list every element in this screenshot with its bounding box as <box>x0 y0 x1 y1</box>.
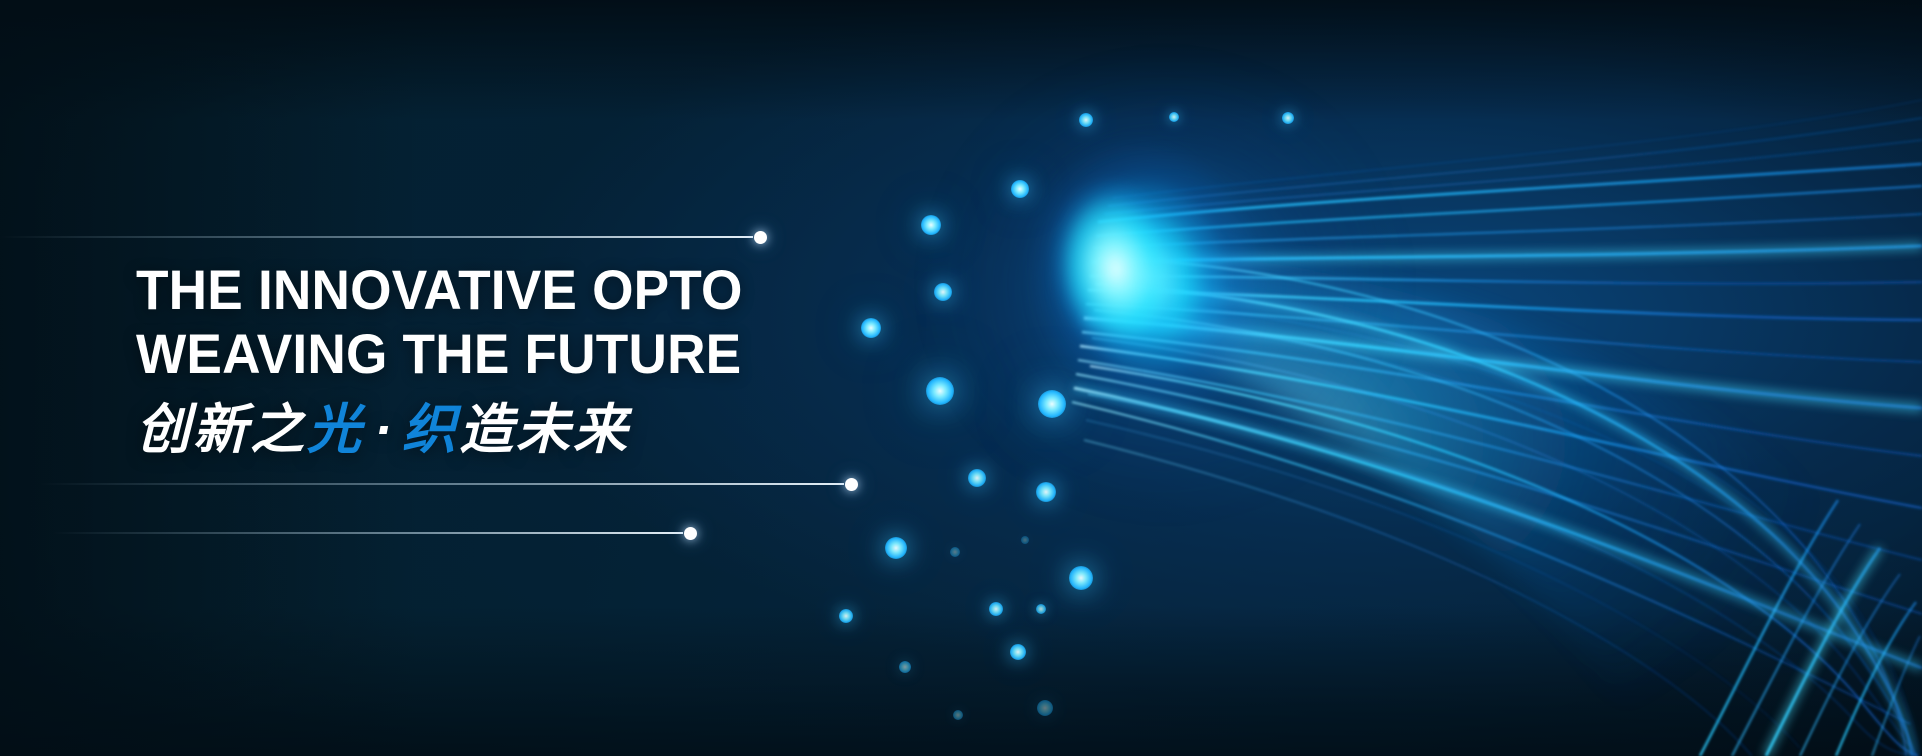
cn-highlight-2: 织 <box>402 400 459 460</box>
hero-banner: THE INNOVATIVE OPTO WEAVING THE FUTURE 创… <box>0 0 1922 756</box>
headline-line-1: THE INNOVATIVE OPTO <box>136 258 820 322</box>
headline-line-2: WEAVING THE FUTURE <box>136 322 820 386</box>
headline-chinese: 创新之光·织造未来 <box>136 403 856 457</box>
cn-highlight-1: 光 <box>307 400 364 460</box>
cn-part-2: 造未来 <box>459 400 630 460</box>
headline-block: THE INNOVATIVE OPTO WEAVING THE FUTURE 创… <box>136 258 856 457</box>
cn-part-1: 创新之 <box>136 400 307 460</box>
cn-separator: · <box>364 400 402 460</box>
